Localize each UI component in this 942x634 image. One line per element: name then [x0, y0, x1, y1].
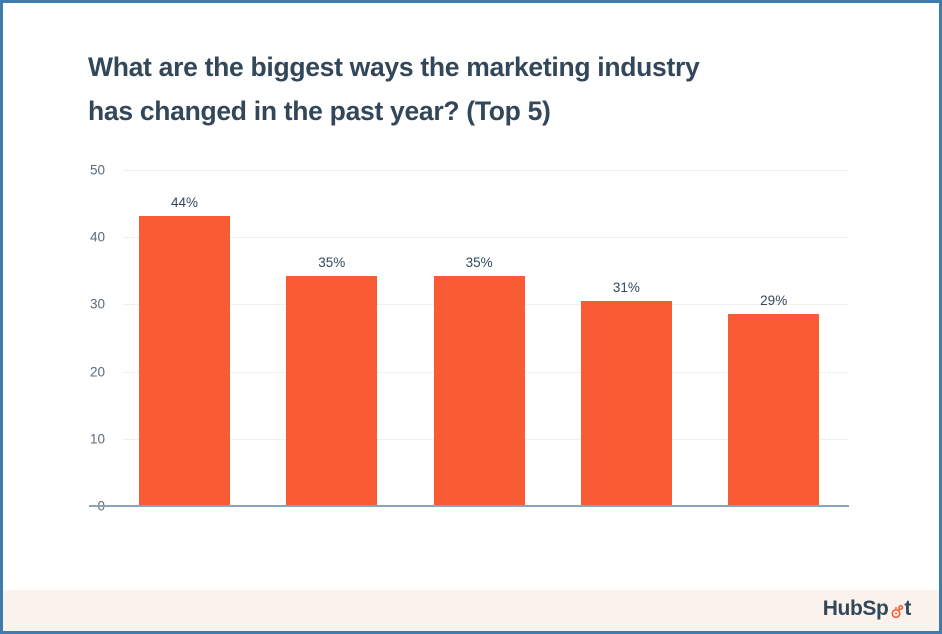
x-axis-line	[89, 505, 849, 507]
hubspot-logo: HubSp t	[823, 597, 911, 621]
bar-value-label: 31%	[613, 280, 640, 295]
hubspot-sprocket-icon	[888, 602, 904, 618]
bar-value-label: 35%	[466, 255, 493, 270]
chart-card: What are the biggest ways the marketing …	[0, 0, 942, 634]
bar[interactable]: 44%	[139, 216, 230, 506]
y-axis-tick-label: 30	[90, 297, 105, 312]
bar[interactable]: 31%	[581, 301, 672, 506]
bar-value-label: 35%	[318, 255, 345, 270]
plot-area: 0102030405044%Focusing on the customer a…	[123, 170, 848, 506]
bar-value-label: 29%	[760, 293, 787, 308]
bar[interactable]: 29%	[728, 314, 819, 506]
bar[interactable]: 35%	[286, 276, 377, 506]
gridline	[123, 237, 848, 238]
logo-text-right: t	[904, 597, 911, 621]
y-axis-tick-label: 10	[90, 431, 105, 446]
bar-value-label: 44%	[171, 195, 198, 210]
logo-text-left: HubSp	[823, 597, 889, 621]
y-axis-tick-label: 50	[90, 163, 105, 178]
y-axis-tick-label: 20	[90, 364, 105, 379]
bar[interactable]: 35%	[434, 276, 525, 506]
gridline	[123, 170, 848, 171]
page-title: What are the biggest ways the marketing …	[88, 45, 858, 133]
footer-band	[3, 590, 939, 631]
y-axis-tick-label: 40	[90, 230, 105, 245]
